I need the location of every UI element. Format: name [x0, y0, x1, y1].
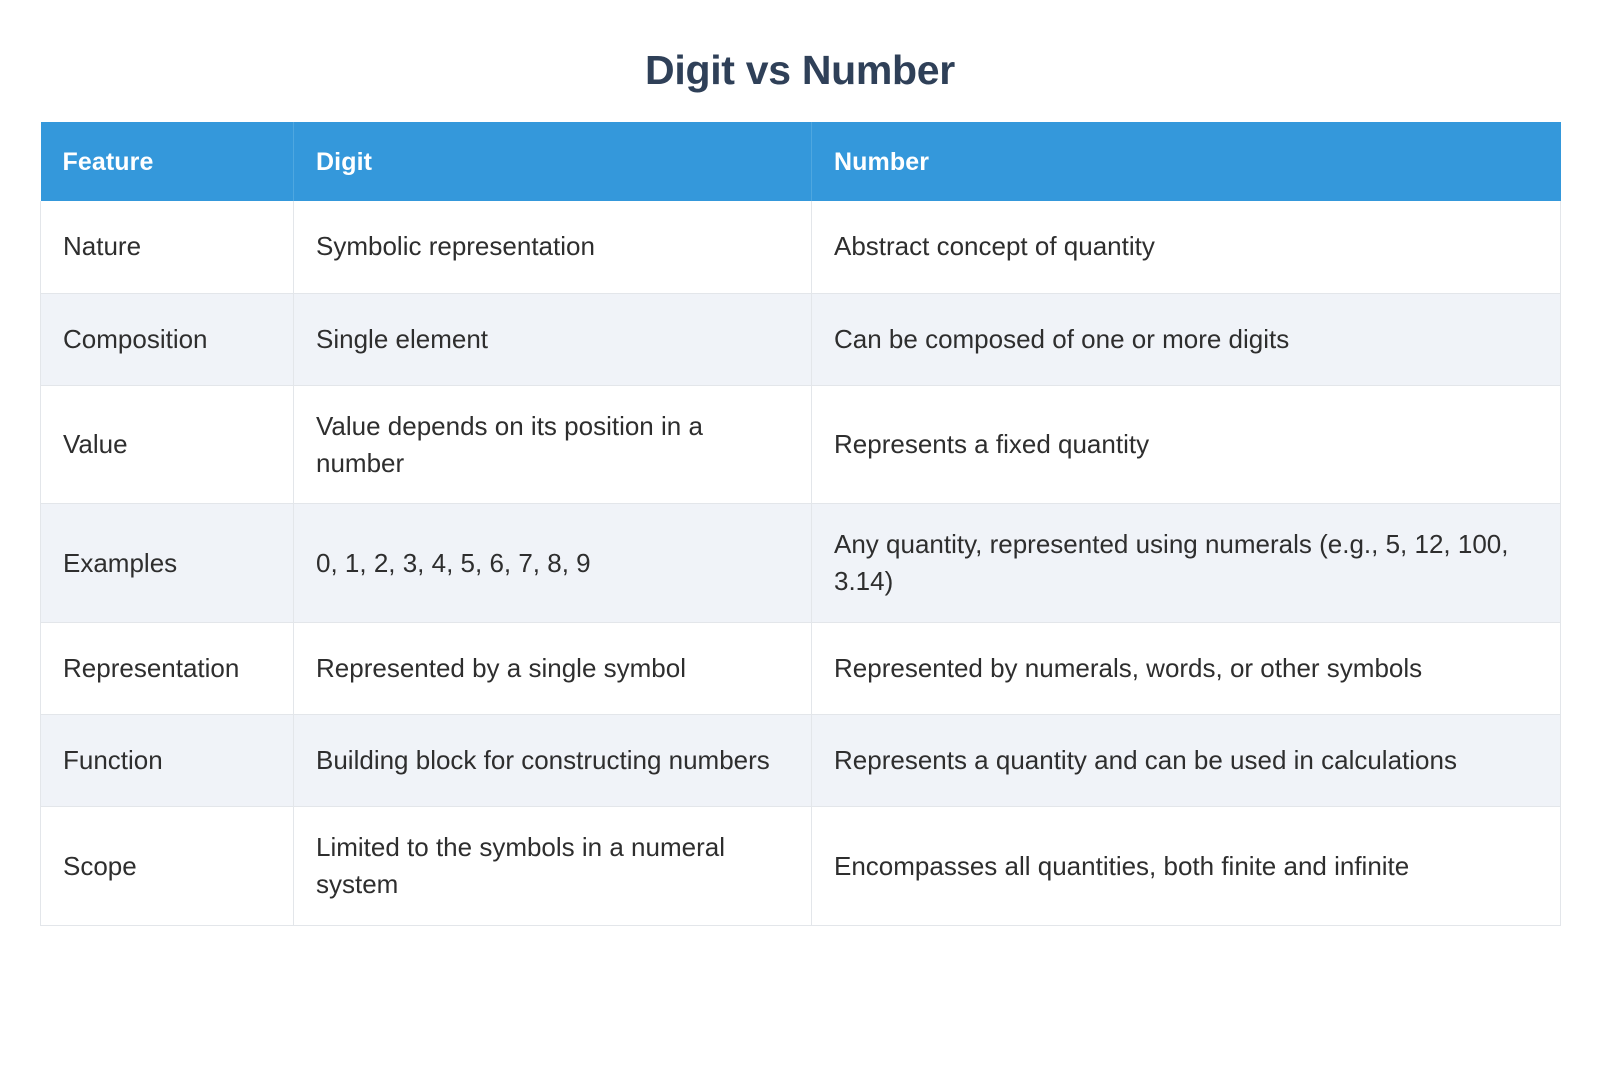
column-header-number[interactable]: Number [812, 122, 1561, 201]
table-row: NatureSymbolic representationAbstract co… [41, 201, 1561, 293]
table-row: ValueValue depends on its position in a … [41, 385, 1561, 504]
table-row: FunctionBuilding block for constructing … [41, 715, 1561, 807]
column-header-digit[interactable]: Digit [294, 122, 812, 201]
table-body: NatureSymbolic representationAbstract co… [41, 201, 1561, 925]
table-cell-digit: 0, 1, 2, 3, 4, 5, 6, 7, 8, 9 [294, 504, 812, 623]
table-header: Feature Digit Number [41, 122, 1561, 201]
table-cell-digit: Limited to the symbols in a numeral syst… [294, 807, 812, 926]
digit-vs-number-table: Feature Digit Number NatureSymbolic repr… [40, 122, 1561, 926]
table-cell-digit: Building block for constructing numbers [294, 715, 812, 807]
page-title: Digit vs Number [0, 0, 1600, 94]
header-row: Feature Digit Number [41, 122, 1561, 201]
table-cell-number: Encompasses all quantities, both finite … [812, 807, 1561, 926]
table-cell-number: Abstract concept of quantity [812, 201, 1561, 293]
table-cell-digit: Value depends on its position in a numbe… [294, 385, 812, 504]
table-cell-number: Can be composed of one or more digits [812, 293, 1561, 385]
table-cell-feature: Examples [41, 504, 294, 623]
table-cell-feature: Composition [41, 293, 294, 385]
column-header-feature[interactable]: Feature [41, 122, 294, 201]
table-cell-feature: Nature [41, 201, 294, 293]
table-row: Examples0, 1, 2, 3, 4, 5, 6, 7, 8, 9Any … [41, 504, 1561, 623]
comparison-table-page: Digit vs Number Feature Digit Number Nat… [0, 0, 1600, 1082]
table-cell-feature: Function [41, 715, 294, 807]
table-row: ScopeLimited to the symbols in a numeral… [41, 807, 1561, 926]
table-container: Feature Digit Number NatureSymbolic repr… [40, 122, 1560, 926]
table-cell-digit: Single element [294, 293, 812, 385]
table-cell-digit: Symbolic representation [294, 201, 812, 293]
table-cell-feature: Representation [41, 623, 294, 715]
table-cell-number: Any quantity, represented using numerals… [812, 504, 1561, 623]
table-cell-number: Represents a quantity and can be used in… [812, 715, 1561, 807]
table-cell-feature: Scope [41, 807, 294, 926]
table-cell-feature: Value [41, 385, 294, 504]
table-cell-number: Represents a fixed quantity [812, 385, 1561, 504]
table-row: RepresentationRepresented by a single sy… [41, 623, 1561, 715]
table-row: CompositionSingle elementCan be composed… [41, 293, 1561, 385]
table-cell-number: Represented by numerals, words, or other… [812, 623, 1561, 715]
table-cell-digit: Represented by a single symbol [294, 623, 812, 715]
